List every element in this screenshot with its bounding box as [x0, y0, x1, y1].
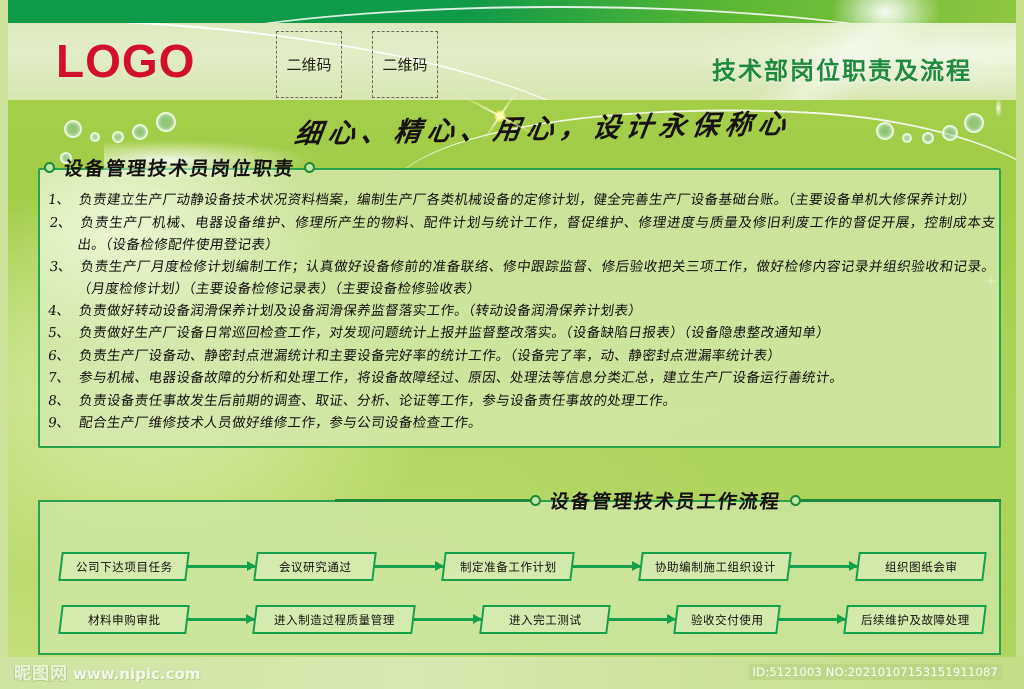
flow-node-label: 公司下达项目任务 [76, 559, 173, 575]
list-item: 3、 负责生产厂月度检修计划编制工作；认真做好设备修前的准备联络、修中跟踪监督、… [48, 257, 994, 300]
duties-section-heading: 设备管理技术员岗位职责 [44, 154, 315, 181]
flow-node[interactable]: 材料申购审批 [58, 605, 190, 634]
list-item-text: 负责做好转动设备润滑保养计划及设备润滑保养监督落实工作。（转动设备润滑保养计划表… [78, 301, 996, 323]
list-item-number: 5、 [46, 323, 80, 345]
bubble-icon [902, 133, 912, 143]
flow-node[interactable]: 公司下达项目任务 [58, 552, 190, 581]
watermark: 昵图网 www.nipic.com [14, 659, 200, 684]
flow-section-title: 设备管理技术员工作流程 [539, 487, 792, 514]
qr-code-placeholder-2[interactable]: 二维码 [372, 31, 438, 98]
flow-node-label: 验收交付使用 [690, 612, 763, 628]
flow-node[interactable]: 制定准备工作计划 [441, 552, 575, 581]
bubble-icon [90, 132, 100, 142]
image-id-code: ID:5121003 NO:20210107153151911087 [749, 664, 1002, 680]
watermark-url: www.nipic.com [73, 665, 200, 683]
list-item: 4、 负责做好转动设备润滑保养计划及设备润滑保养监督落实工作。（转动设备润滑保养… [48, 301, 994, 323]
list-item-number: 1、 [46, 190, 80, 212]
flow-node-label: 材料申购审批 [88, 612, 161, 628]
duties-list: 1、 负责建立生产厂动静设备技术状况资料档案，编制生产厂各类机械设备的定修计划，… [48, 190, 994, 436]
flow-diagram: 公司下达项目任务 会议研究通过 制定准备工作计划 协助编制施工组织设计 组织图纸… [60, 552, 985, 658]
footer: 昵图网 www.nipic.com ID:5121003 NO:20210107… [0, 657, 1024, 689]
flow-arrow-icon [188, 618, 254, 621]
logo: LOGO [56, 34, 195, 88]
flow-node-label: 制定准备工作计划 [459, 559, 556, 575]
flow-arrow-icon [188, 565, 255, 568]
list-item-text: 负责建立生产厂动静设备技术状况资料档案，编制生产厂各类机械设备的定修计划，健全完… [78, 190, 996, 212]
list-item: 6、 负责生产厂设备动、静密封点泄漏统计和主要设备完好率的统计工作。（设备完了率… [48, 346, 994, 368]
flow-node[interactable]: 会议研究通过 [253, 552, 377, 581]
bubble-icon [964, 113, 984, 133]
poster-body: LOGO 二维码 二维码 技术部岗位职责及流程 细心、精心、用心，设计永保称心 [8, 0, 1016, 659]
bubble-icon [132, 124, 148, 140]
bullet-dot-icon [790, 495, 801, 506]
flow-row-2: 材料申购审批 进入制造过程质量管理 进入完工测试 验收交付使用 后续维护及故障处… [60, 605, 985, 634]
qr-code-label-2: 二维码 [382, 54, 427, 75]
list-item-text: 负责生产厂设备动、静密封点泄漏统计和主要设备完好率的统计工作。（设备完了率，动、… [78, 346, 996, 368]
list-item-number: 6、 [46, 346, 80, 368]
flow-arrow-icon [609, 618, 675, 621]
list-item-number: 9、 [46, 413, 80, 435]
list-item: 9、 配合生产厂维修技术人员做好维修工作，参与公司设备检查工作。 [48, 413, 994, 435]
flow-arrow-icon [573, 565, 640, 568]
flow-node-label: 进入完工测试 [508, 612, 581, 628]
heading-rule-right [801, 499, 1001, 502]
list-item-text: 负责生产厂月度检修计划编制工作；认真做好设备修前的准备联络、修中跟踪监督、修后验… [76, 257, 997, 300]
flow-section-heading: 设备管理技术员工作流程 [38, 487, 1001, 514]
list-item-text: 配合生产厂维修技术人员做好维修工作，参与公司设备检查工作。 [78, 413, 996, 435]
bubble-icon [876, 122, 894, 140]
flow-arrow-icon [790, 565, 857, 568]
duties-section-title: 设备管理技术员岗位职责 [53, 154, 306, 181]
page-title: 技术部岗位职责及流程 [712, 51, 972, 86]
flow-node[interactable]: 验收交付使用 [673, 605, 781, 634]
list-item-text: 负责做好生产厂设备日常巡回检查工作，对发现问题统计上报并监督整改落实。（设备缺陷… [78, 323, 996, 345]
poster-root: LOGO 二维码 二维码 技术部岗位职责及流程 细心、精心、用心，设计永保称心 [0, 0, 1024, 689]
bubble-icon [942, 125, 958, 141]
flow-row-1: 公司下达项目任务 会议研究通过 制定准备工作计划 协助编制施工组织设计 组织图纸… [60, 552, 985, 581]
qr-code-placeholder-1[interactable]: 二维码 [276, 31, 342, 98]
qr-code-label-1: 二维码 [286, 54, 331, 75]
bubble-icon [922, 132, 934, 144]
flow-arrow-icon [779, 618, 845, 621]
list-item-text: 负责设备责任事故发生后前期的调查、取证、分析、论证等工作，参与设备责任事故的处理… [78, 391, 996, 413]
heading-rule-left [335, 499, 530, 502]
flow-node-label: 会议研究通过 [279, 559, 352, 575]
list-item: 8、 负责设备责任事故发生后前期的调查、取证、分析、论证等工作，参与设备责任事故… [48, 391, 994, 413]
list-item-text: 负责生产厂机械、电器设备维护、修理所产生的物料、配件计划与统计工作，督促维护、修… [76, 213, 997, 256]
flow-arrow-icon [375, 565, 442, 568]
list-item: 2、 负责生产厂机械、电器设备维护、修理所产生的物料、配件计划与统计工作，督促维… [48, 213, 994, 256]
list-item-number: 8、 [46, 391, 80, 413]
list-item: 5、 负责做好生产厂设备日常巡回检查工作，对发现问题统计上报并监督整改落实。（设… [48, 323, 994, 345]
flow-node-label: 组织图纸会审 [885, 559, 958, 575]
edge-decoration-blob [995, 98, 1002, 118]
flow-node[interactable]: 进入完工测试 [479, 605, 611, 634]
bubble-icon [64, 120, 82, 138]
list-item-number: 7、 [46, 368, 80, 390]
bubble-icon [156, 112, 176, 132]
watermark-brand: 昵图网 [14, 659, 68, 684]
list-item: 1、 负责建立生产厂动静设备技术状况资料档案，编制生产厂各类机械设备的定修计划，… [48, 190, 994, 212]
flow-node[interactable]: 进入制造过程质量管理 [252, 605, 416, 634]
list-item: 7、 参与机械、电器设备故障的分析和处理工作，将设备故障经过、原因、处理法等信息… [48, 368, 994, 390]
list-item-number: 4、 [46, 301, 80, 323]
list-item-text: 参与机械、电器设备故障的分析和处理工作，将设备故障经过、原因、处理法等信息分类汇… [78, 368, 996, 390]
flow-node-label: 协助编制施工组织设计 [654, 559, 775, 575]
flow-node[interactable]: 协助编制施工组织设计 [638, 552, 792, 581]
flow-node-label: 后续维护及故障处理 [861, 612, 970, 628]
flow-node-label: 进入制造过程质量管理 [274, 612, 395, 628]
flow-arrow-icon [414, 618, 480, 621]
flow-node[interactable]: 组织图纸会审 [855, 552, 987, 581]
flow-node[interactable]: 后续维护及故障处理 [843, 605, 987, 634]
